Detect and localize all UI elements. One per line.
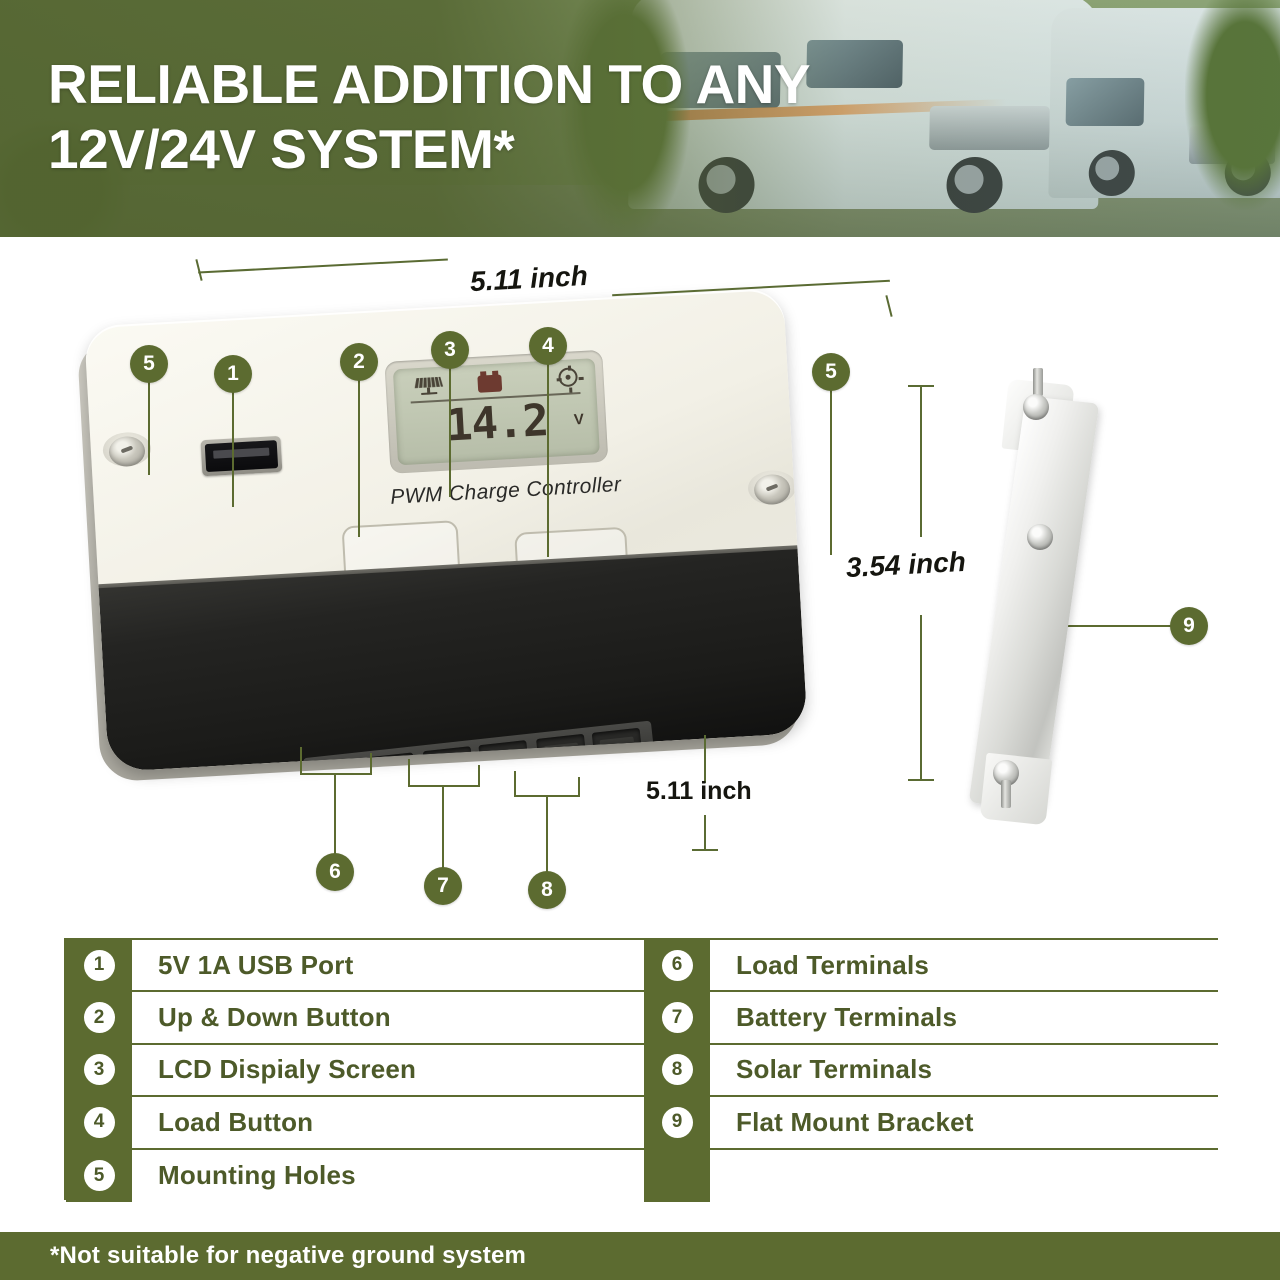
bracket-screw-middle xyxy=(1027,524,1053,550)
callout-badge: 1 xyxy=(214,355,252,393)
callout-badge: 6 xyxy=(316,853,354,891)
legend-label: Battery Terminals xyxy=(710,1002,957,1033)
legend-number: 7 xyxy=(662,1002,693,1033)
lcd-bezel: 14.2 V xyxy=(384,350,608,474)
bracket-bolt-bottom xyxy=(1001,780,1011,808)
legend-number-cell: 1 xyxy=(66,940,132,990)
legend-number: 4 xyxy=(84,1107,115,1138)
legend-label: Load Button xyxy=(132,1107,313,1138)
legend-number: 2 xyxy=(84,1002,115,1033)
legend-number: 6 xyxy=(662,950,693,981)
hero-title-line2: 12V/24V SYSTEM* xyxy=(48,117,948,182)
bracket-body xyxy=(969,396,1100,810)
legend-number-cell: 2 xyxy=(66,992,132,1042)
bracket-bottom-tab xyxy=(980,753,1053,826)
lcd-voltage-unit: V xyxy=(573,411,584,429)
legend-number-cell: 9 xyxy=(644,1097,710,1147)
legend-number-cell: 8 xyxy=(644,1045,710,1095)
solar-panel-icon xyxy=(415,376,442,395)
legend-number: 5 xyxy=(84,1160,115,1191)
legend-column-right: 6 Load Terminals 7 Battery Terminals 8 S… xyxy=(644,940,1218,1202)
legend-row: 4 Load Button xyxy=(66,1097,644,1149)
legend-number-cell: 3 xyxy=(66,1045,132,1095)
legend-label: Solar Terminals xyxy=(710,1054,932,1085)
legend-column-left: 1 5V 1A USB Port 2 Up & Down Button 3 LC… xyxy=(66,940,644,1202)
legend-row: 1 5V 1A USB Port xyxy=(66,940,644,992)
bracket-bolt-top xyxy=(1033,368,1043,396)
callout-badge: 3 xyxy=(431,331,469,369)
legend-number-cell: 7 xyxy=(644,992,710,1042)
bracket-screw-top xyxy=(1023,394,1049,420)
callout-badge: 7 xyxy=(424,867,462,905)
callout-badge: 5 xyxy=(812,353,850,391)
product-stage: 14.2 V PWM Charge Controller ◂▸ xyxy=(0,237,1280,917)
lcd-display-screen: 14.2 V xyxy=(393,358,600,465)
legend-label: Flat Mount Bracket xyxy=(710,1107,974,1138)
legend-label: Load Terminals xyxy=(710,950,929,981)
footer-note-bar: *Not suitable for negative ground system xyxy=(0,1232,1280,1280)
legend-label: Mounting Holes xyxy=(132,1160,356,1191)
legend-row-empty xyxy=(644,1150,1218,1202)
legend-table: 1 5V 1A USB Port 2 Up & Down Button 3 LC… xyxy=(64,938,1218,1200)
callout-badge: 8 xyxy=(528,871,566,909)
legend-row: 7 Battery Terminals xyxy=(644,992,1218,1044)
legend-number-cell: 5 xyxy=(66,1150,132,1202)
flat-mount-bracket xyxy=(975,372,1095,832)
legend-row: 5 Mounting Holes xyxy=(66,1150,644,1202)
callout-badge: 9 xyxy=(1170,607,1208,645)
legend-label: Up & Down Button xyxy=(132,1002,391,1033)
callout-badge: 5 xyxy=(130,345,168,383)
dimension-label-height: 3.54 inch xyxy=(845,546,966,584)
usb-tongue xyxy=(213,448,269,459)
legend-row: 8 Solar Terminals xyxy=(644,1045,1218,1097)
callout-badge: 2 xyxy=(340,343,378,381)
legend-row: 2 Up & Down Button xyxy=(66,992,644,1044)
legend-row: 9 Flat Mount Bracket xyxy=(644,1097,1218,1149)
hero-title: RELIABLE ADDITION TO ANY 12V/24V SYSTEM* xyxy=(48,52,948,182)
infographic-page: RELIABLE ADDITION TO ANY 12V/24V SYSTEM* xyxy=(0,0,1280,1280)
legend-label: LCD Dispialy Screen xyxy=(132,1054,416,1085)
footer-note-text: *Not suitable for negative ground system xyxy=(0,1242,526,1270)
gear-icon xyxy=(558,367,578,387)
hero-banner: RELIABLE ADDITION TO ANY 12V/24V SYSTEM* xyxy=(0,0,1280,237)
legend-label: 5V 1A USB Port xyxy=(132,950,353,981)
legend-number: 8 xyxy=(662,1054,693,1085)
usb-slot xyxy=(205,440,278,472)
usb-port[interactable] xyxy=(201,436,283,476)
legend-number-cell: 6 xyxy=(644,940,710,990)
dimension-label-depth: 5.11 inch xyxy=(646,777,752,806)
lcd-voltage-value: 14.2 xyxy=(395,392,600,454)
legend-number: 1 xyxy=(84,950,115,981)
legend-row: 3 LCD Dispialy Screen xyxy=(66,1045,644,1097)
legend-number: 9 xyxy=(662,1107,693,1138)
battery-icon xyxy=(477,370,502,392)
legend-number-cell: 4 xyxy=(66,1097,132,1147)
dimension-label-width: 5.11 inch xyxy=(469,260,588,298)
hero-title-line1: RELIABLE ADDITION TO ANY xyxy=(48,53,810,115)
callout-badge: 4 xyxy=(529,327,567,365)
legend-number: 3 xyxy=(84,1054,115,1085)
device-lower-black-panel: DC LOAD – + +− BATTERY – + xyxy=(99,549,808,772)
legend-row: 6 Load Terminals xyxy=(644,940,1218,992)
legend-number-cell-empty xyxy=(644,1150,710,1202)
